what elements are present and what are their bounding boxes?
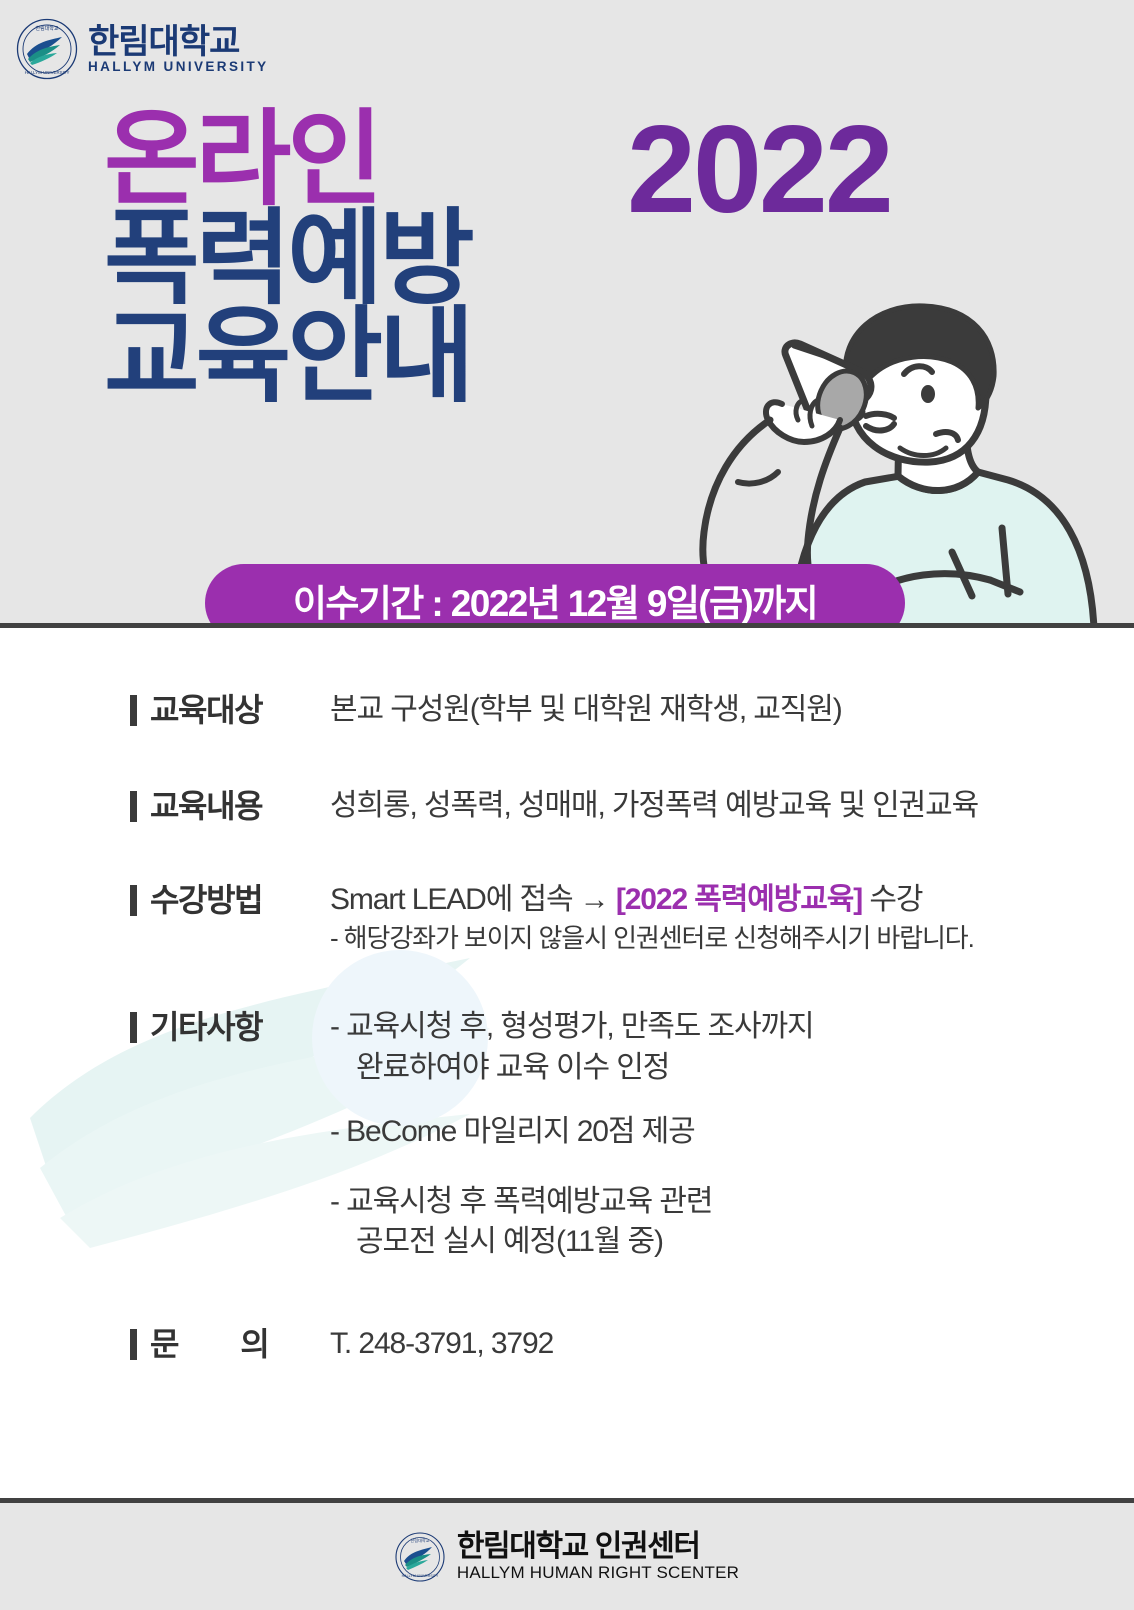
info-row-target: 교육대상 본교 구성원(학부 및 대학원 재학생, 교직원) [0, 688, 1134, 730]
info-row-contact: 문 의 T. 248-3791, 3792 [0, 1322, 1134, 1364]
info-value-line: - BeCome 마일리지 20점 제공 [330, 1112, 1134, 1152]
svg-text:HALLYM UNIVERSITY: HALLYM UNIVERSITY [402, 1574, 439, 1578]
hallym-seal-icon: 한림대학교 HALLYM UNIVERSITY [395, 1532, 445, 1582]
info-row-misc: 기타사항 - 교육시청 후, 형성평가, 만족도 조사까지 완료하여야 교육 이… [0, 1005, 1134, 1262]
headline-line-2: 폭력예방 [104, 211, 471, 308]
logo-english-text: HALLYM UNIVERSITY [88, 60, 269, 74]
bullet-tick-icon [130, 695, 137, 726]
hallym-seal-icon: 한림대학교 HALLYM UNIVERSITY [16, 18, 78, 80]
info-value-line: 성희롱, 성폭력, 성매매, 가정폭력 예방교육 및 인권교육 [330, 786, 1134, 826]
info-section: 교육대상 본교 구성원(학부 및 대학원 재학생, 교직원) 교육내용 성희롱,… [0, 628, 1134, 1498]
info-label-target: 교육대상 [130, 688, 330, 730]
info-row-content: 교육내용 성희롱, 성폭력, 성매매, 가정폭력 예방교육 및 인권교육 [0, 784, 1134, 826]
bullet-tick-icon [130, 1329, 137, 1360]
info-label-text: 기타사항 [150, 1007, 262, 1047]
year-label: 2022 [627, 108, 891, 232]
logo-wordmark: 한림대학교 HALLYM UNIVERSITY [88, 25, 269, 74]
method-pre-text: Smart LEAD에 접속 → [330, 883, 616, 916]
footer-english-text: HALLYM HUMAN RIGHT SCENTER [457, 1564, 739, 1581]
info-label-text: 교육대상 [150, 690, 262, 730]
info-value-line-rich: Smart LEAD에 접속 → [2022 폭력예방교육] 수강 [330, 880, 1134, 920]
poster-headline: 온라인 폭력예방 교육안내 [104, 112, 471, 406]
info-label-contact: 문 의 [130, 1322, 330, 1364]
svg-text:HALLYM UNIVERSITY: HALLYM UNIVERSITY [25, 70, 70, 75]
info-label-text: 문 의 [150, 1324, 296, 1364]
info-label-text: 수강방법 [150, 880, 262, 920]
info-value-line: 완료하여야 교육 이수 인정 [330, 1048, 1134, 1088]
deadline-banner: 이수기간 : 2022년 12월 9일(금)까지 [205, 564, 905, 628]
svg-text:한림대학교: 한림대학교 [410, 1537, 429, 1544]
info-value-content: 성희롱, 성폭력, 성매매, 가정폭력 예방교육 및 인권교육 [330, 784, 1134, 826]
info-label-misc: 기타사항 [130, 1005, 330, 1047]
hero-panel: 한림대학교 HALLYM UNIVERSITY 한림대학교 HALLYM UNI… [0, 0, 1134, 628]
method-highlight-text: [2022 폭력예방교육] [616, 883, 862, 916]
deadline-banner-text: 이수기간 : 2022년 12월 9일(금)까지 [293, 585, 817, 622]
logo-korean-text: 한림대학교 [88, 25, 269, 59]
info-value-target: 본교 구성원(학부 및 대학원 재학생, 교직원) [330, 688, 1134, 730]
info-value-method: Smart LEAD에 접속 → [2022 폭력예방교육] 수강 - 해당강좌… [330, 878, 1134, 955]
info-label-method: 수강방법 [130, 878, 330, 920]
info-label-text: 교육내용 [150, 786, 262, 826]
contact-phone-text: T. 248-3791, 3792 [330, 1324, 1134, 1364]
poster-footer: 한림대학교 HALLYM UNIVERSITY 한림대학교 인권센터 HALLY… [0, 1498, 1134, 1610]
footer-korean-text: 한림대학교 인권센터 [457, 1532, 739, 1562]
footer-logo-lockup: 한림대학교 HALLYM UNIVERSITY 한림대학교 인권센터 HALLY… [395, 1532, 739, 1582]
headline-line-3: 교육안내 [104, 309, 471, 406]
info-row-method: 수강방법 Smart LEAD에 접속 → [2022 폭력예방교육] 수강 -… [0, 878, 1134, 955]
info-label-content: 교육내용 [130, 784, 330, 826]
info-value-contact: T. 248-3791, 3792 [330, 1322, 1134, 1364]
headline-line-1: 온라인 [104, 112, 471, 209]
method-post-text: 수강 [862, 883, 922, 916]
info-value-line: 본교 구성원(학부 및 대학원 재학생, 교직원) [330, 690, 1134, 730]
bullet-tick-icon [130, 1012, 137, 1043]
info-value-misc: - 교육시청 후, 형성평가, 만족도 조사까지 완료하여야 교육 이수 인정 … [330, 1005, 1134, 1262]
footer-wordmark: 한림대학교 인권센터 HALLYM HUMAN RIGHT SCENTER [457, 1532, 739, 1581]
info-value-line: 공모전 실시 예정(11월 중) [330, 1222, 1134, 1262]
bullet-tick-icon [130, 885, 137, 916]
university-logo-lockup: 한림대학교 HALLYM UNIVERSITY 한림대학교 HALLYM UNI… [16, 18, 269, 80]
info-value-line: - 교육시청 후 폭력예방교육 관련 [330, 1182, 1134, 1222]
bullet-tick-icon [130, 791, 137, 822]
info-value-line-note: - 해당강좌가 보이지 않을시 인권센터로 신청해주시기 바랍니다. [330, 921, 1134, 956]
svg-text:한림대학교: 한림대학교 [35, 25, 58, 32]
info-value-line: - 교육시청 후, 형성평가, 만족도 조사까지 [330, 1007, 1134, 1047]
info-rows-container: 교육대상 본교 구성원(학부 및 대학원 재학생, 교직원) 교육내용 성희롱,… [0, 628, 1134, 1365]
